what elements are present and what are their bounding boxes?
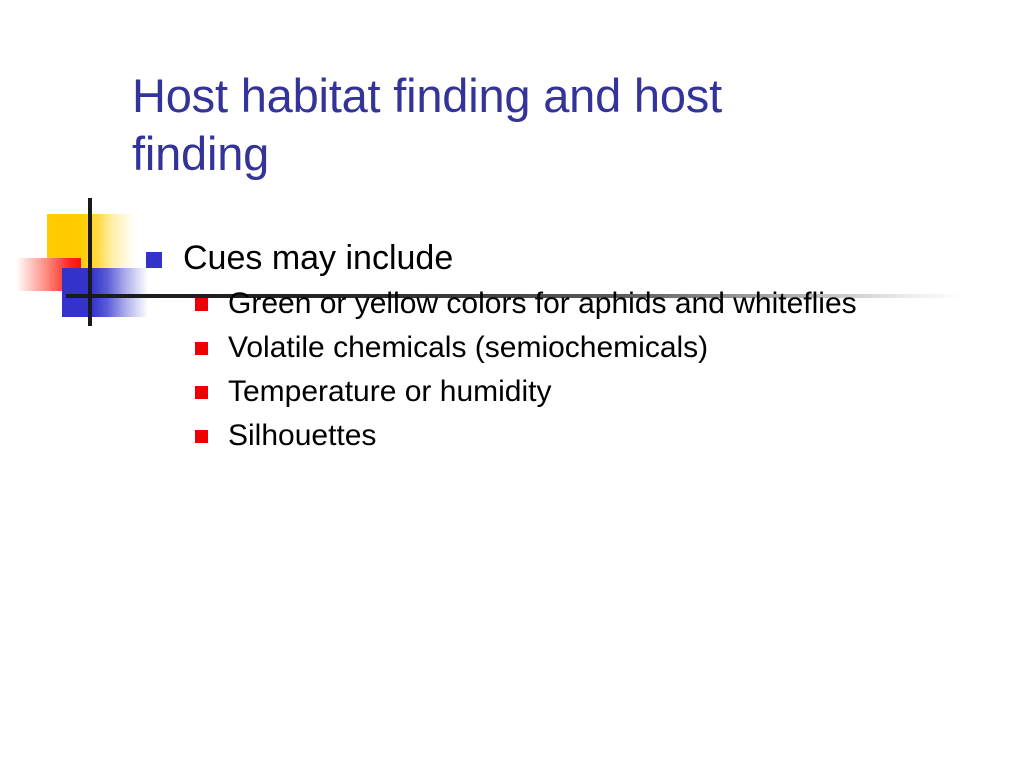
bullet-item-level2: Temperature or humidity [0, 372, 1024, 411]
bullet-text: Cues may include [183, 239, 453, 277]
slide-canvas: Host habitat finding and host finding Cu… [0, 0, 1024, 768]
square-bullet-icon [195, 298, 208, 311]
square-bullet-icon [195, 430, 208, 443]
bullet-item-level2: Silhouettes [0, 416, 1024, 455]
square-bullet-icon [146, 252, 162, 268]
bullet-text: Green or yellow colors for aphids and wh… [228, 284, 904, 323]
square-bullet-icon [195, 386, 208, 399]
bullet-text: Temperature or humidity [228, 372, 904, 411]
slide-title-line-1: Host habitat finding and host [132, 67, 962, 125]
bullet-text: Volatile chemicals (semiochemicals) [228, 328, 904, 367]
bullet-item-level2: Green or yellow colors for aphids and wh… [0, 284, 1024, 323]
bullet-item-level1: Cues may include [0, 236, 1024, 280]
bullet-text: Silhouettes [228, 416, 904, 455]
slide-title: Host habitat finding and host finding [132, 67, 962, 183]
slide-title-line-2: finding [132, 125, 962, 183]
bullet-item-level2: Volatile chemicals (semiochemicals) [0, 328, 1024, 367]
slide-body: Cues may include Green or yellow colors … [0, 236, 1024, 460]
square-bullet-icon [195, 342, 208, 355]
